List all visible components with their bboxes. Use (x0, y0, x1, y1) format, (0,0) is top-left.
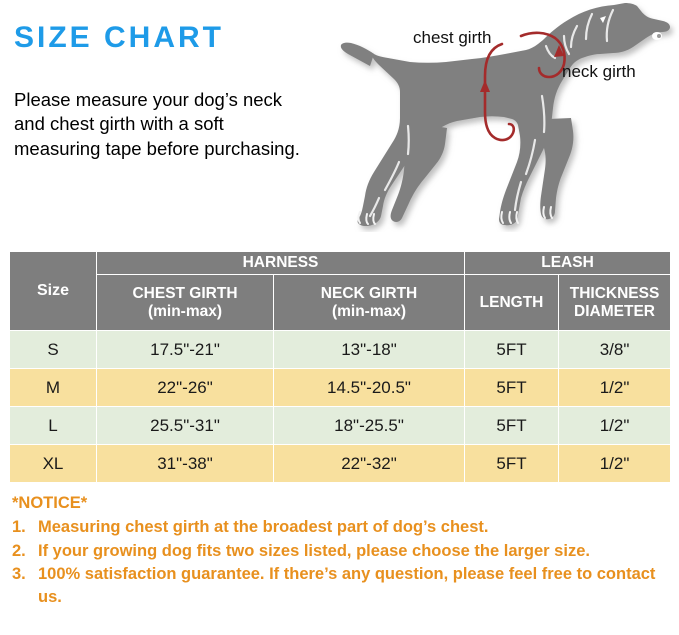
header-thickness: THICKNESS DIAMETER (559, 275, 671, 331)
table-group-header-row: Size HARNESS LEASH (10, 252, 671, 275)
dog-silhouette-icon (330, 0, 679, 232)
cell-leash-thickness: 1/2" (559, 369, 671, 407)
cell-size: S (10, 331, 97, 369)
notice-item-text: Measuring chest girth at the broadest pa… (38, 518, 488, 536)
cell-leash-length: 5FT (465, 331, 559, 369)
header-neck-girth: NECK GIRTH (min-max) (274, 275, 465, 331)
cell-leash-thickness: 3/8" (559, 331, 671, 369)
cell-leash-length: 5FT (465, 407, 559, 445)
notice-heading: *NOTICE* (12, 492, 674, 515)
cell-leash-length: 5FT (465, 369, 559, 407)
header-harness: HARNESS (97, 252, 465, 275)
cell-chest-girth: 22"-26" (97, 369, 274, 407)
cell-chest-girth: 25.5"-31" (97, 407, 274, 445)
notice-item-number: 2. (12, 540, 26, 563)
header-leash: LEASH (465, 252, 671, 275)
cell-chest-girth: 31"-38" (97, 445, 274, 483)
notice-item-number: 1. (12, 516, 26, 539)
cell-size: XL (10, 445, 97, 483)
table-sub-header-row: CHEST GIRTH (min-max) NECK GIRTH (min-ma… (10, 275, 671, 331)
table-row: L 25.5"-31" 18"-25.5" 5FT 1/2" (10, 407, 671, 445)
notice-list: 1. Measuring chest girth at the broadest… (12, 516, 674, 609)
neck-girth-label: neck girth (562, 62, 636, 82)
header-size: Size (10, 252, 97, 331)
size-chart-table: Size HARNESS LEASH CHEST GIRTH (min-max)… (9, 251, 671, 483)
cell-neck-girth: 18"-25.5" (274, 407, 465, 445)
header-thickness-main: THICKNESS (559, 285, 670, 303)
notice-item-number: 3. (12, 563, 26, 586)
header-chest-girth-sub: (min-max) (97, 303, 273, 321)
table-body: S 17.5"-21" 13"-18" 5FT 3/8" M 22"-26" 1… (10, 331, 671, 483)
notice-block: *NOTICE* 1. Measuring chest girth at the… (12, 492, 674, 610)
dog-measurement-illustration: chest girth neck girth (330, 0, 679, 232)
notice-item: 2. If your growing dog fits two sizes li… (12, 540, 674, 563)
cell-chest-girth: 17.5"-21" (97, 331, 274, 369)
cell-neck-girth: 22"-32" (274, 445, 465, 483)
notice-item: 3. 100% satisfaction guarantee. If there… (12, 563, 674, 609)
header-length: LENGTH (465, 275, 559, 331)
header-neck-girth-main: NECK GIRTH (274, 285, 464, 303)
table-header: Size HARNESS LEASH CHEST GIRTH (min-max)… (10, 252, 671, 331)
notice-item: 1. Measuring chest girth at the broadest… (12, 516, 674, 539)
intro-paragraph: Please measure your dog’s neck and chest… (14, 88, 306, 161)
header-chest-girth: CHEST GIRTH (min-max) (97, 275, 274, 331)
cell-size: M (10, 369, 97, 407)
cell-leash-length: 5FT (465, 445, 559, 483)
cell-neck-girth: 13"-18" (274, 331, 465, 369)
cell-leash-thickness: 1/2" (559, 407, 671, 445)
notice-item-text: If your growing dog fits two sizes liste… (38, 542, 590, 560)
cell-size: L (10, 407, 97, 445)
table-row: S 17.5"-21" 13"-18" 5FT 3/8" (10, 331, 671, 369)
notice-item-text: 100% satisfaction guarantee. If there’s … (38, 565, 655, 606)
header-chest-girth-main: CHEST GIRTH (97, 285, 273, 303)
cell-leash-thickness: 1/2" (559, 445, 671, 483)
chest-girth-label: chest girth (413, 28, 491, 48)
table-row: XL 31"-38" 22"-32" 5FT 1/2" (10, 445, 671, 483)
header-neck-girth-sub: (min-max) (274, 303, 464, 321)
table-row: M 22"-26" 14.5"-20.5" 5FT 1/2" (10, 369, 671, 407)
header-thickness-sub: DIAMETER (559, 303, 670, 321)
cell-neck-girth: 14.5"-20.5" (274, 369, 465, 407)
page-title: SIZE CHART (14, 21, 224, 55)
